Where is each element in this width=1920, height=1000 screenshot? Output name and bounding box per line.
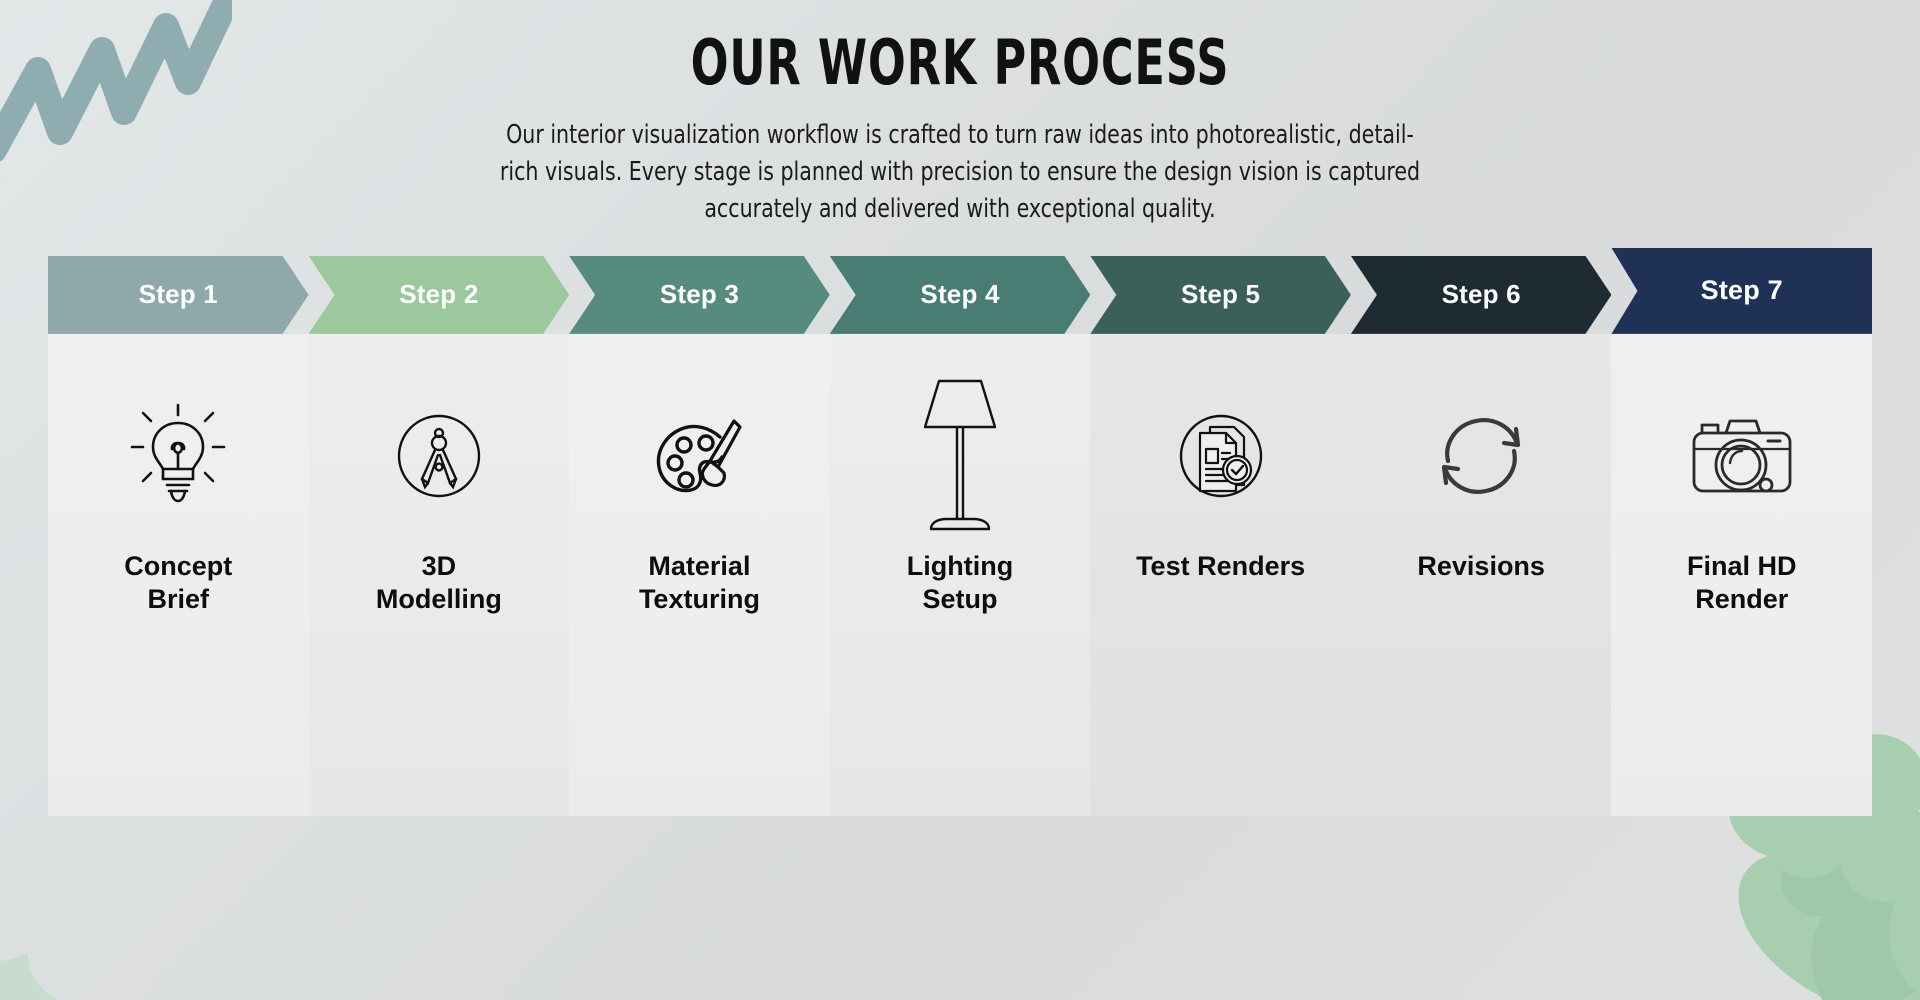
step-label-4: Lighting Setup [897,550,1023,616]
step-ribbon-5[interactable]: Step 5 [1090,256,1351,334]
process-section: Step 1 Concept Brief [0,256,1920,816]
refresh-cycle-icon [1351,386,1612,526]
step-ribbon-6[interactable]: Step 6 [1351,256,1612,334]
palette-brush-icon [569,386,830,526]
step-label-3: Material Texturing [629,550,770,616]
process-step-5[interactable]: Step 5 T [1090,256,1351,816]
step-label-1: Concept Brief [114,550,242,616]
step-number-label-1: Step 1 [139,279,218,310]
step-panel-3: Material Texturing [569,334,830,816]
step-panel-6: Revisions [1351,334,1612,816]
step-panel-2: 3D Modelling [309,334,570,816]
step-number-label-3: Step 3 [660,279,739,310]
process-step-4[interactable]: Step 4 Lighting Setup [830,256,1091,816]
process-step-3[interactable]: Step 3 Material Texturing [569,256,830,816]
step-ribbon-4[interactable]: Step 4 [830,256,1091,334]
step-label-6: Revisions [1407,550,1555,583]
compass-circle-icon [309,386,570,526]
step-number-label-7: Step 7 [1701,275,1783,306]
step-ribbon-7[interactable]: Step 7 [1611,248,1872,334]
leaf-decoration-bottom-left [0,870,180,1000]
process-step-7[interactable]: Step 7 Final HD Rende [1611,248,1872,816]
step-label-7: Final HD Render [1677,550,1807,616]
page-title: OUR WORK PROCESS [192,30,1728,95]
step-ribbon-3[interactable]: Step 3 [569,256,830,334]
process-track: Step 1 Concept Brief [48,256,1872,816]
step-label-2: 3D Modelling [366,550,512,616]
process-step-2[interactable]: Step 2 3D Modelling [309,256,570,816]
step-number-label-2: Step 2 [399,279,478,310]
step-ribbon-1[interactable]: Step 1 [48,256,309,334]
step-number-label-5: Step 5 [1181,279,1260,310]
step-label-5: Test Renders [1126,550,1315,583]
step-number-label-4: Step 4 [920,279,999,310]
step-ribbon-2[interactable]: Step 2 [309,256,570,334]
step-panel-1: Concept Brief [48,334,309,816]
lightbulb-icon [48,386,309,526]
step-panel-4: Lighting Setup [830,334,1091,816]
floor-lamp-icon [830,386,1091,526]
process-step-1[interactable]: Step 1 Concept Brief [48,256,309,816]
process-step-6[interactable]: Step 6 Revisions [1351,256,1612,816]
document-check-icon [1090,386,1351,526]
page-subtitle: Our interior visualization workflow is c… [494,117,1427,228]
step-panel-7: Final HD Render [1611,334,1872,816]
step-number-label-6: Step 6 [1442,279,1521,310]
step-panel-5: Test Renders [1090,334,1351,816]
page-header: OUR WORK PROCESS Our interior visualizat… [0,0,1920,228]
camera-icon [1611,386,1872,526]
